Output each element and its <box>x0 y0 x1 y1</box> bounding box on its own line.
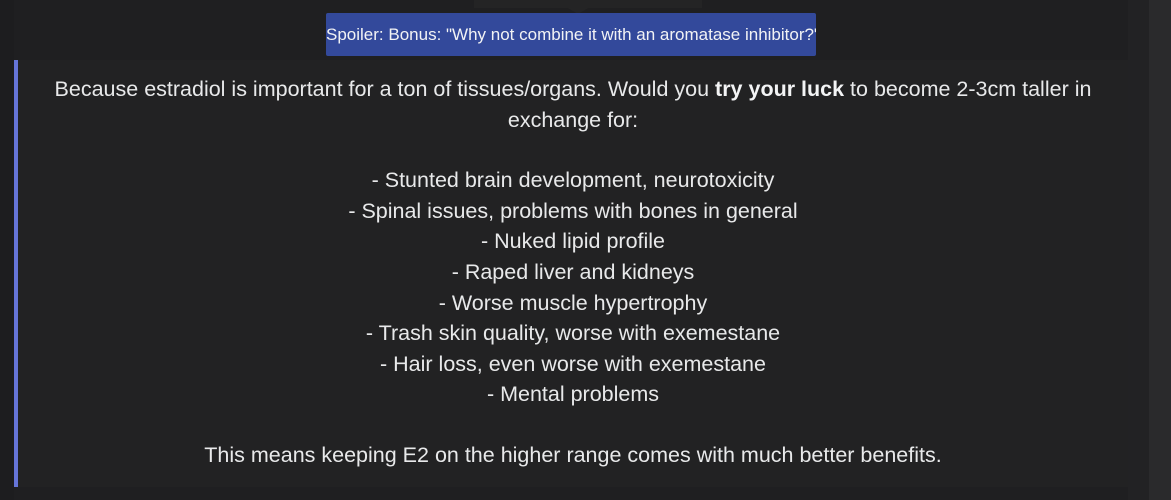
list-item: - Worse muscle hypertrophy <box>40 288 1106 319</box>
side-effects-list: - Stunted brain development, neurotoxici… <box>40 165 1106 410</box>
paragraph-spacer-top <box>40 135 1106 165</box>
intro-text-bold: try your luck <box>715 77 844 101</box>
quote-text-body: Because estradiol is important for a ton… <box>40 74 1106 471</box>
intro-paragraph: Because estradiol is important for a ton… <box>40 74 1106 135</box>
page-root: Spoiler: Bonus: "Why not combine it with… <box>0 0 1171 500</box>
page-right-gutter-inner <box>1128 0 1149 500</box>
intro-text-before-bold: Because estradiol is important for a ton… <box>55 77 715 101</box>
list-item: - Raped liver and kidneys <box>40 257 1106 288</box>
list-item: - Spinal issues, problems with bones in … <box>40 196 1106 227</box>
list-item: - Hair loss, even worse with exemestane <box>40 349 1106 380</box>
paragraph-spacer-bottom <box>40 410 1106 440</box>
closing-paragraph: This means keeping E2 on the higher rang… <box>40 440 1106 471</box>
list-item: - Mental problems <box>40 379 1106 410</box>
spoiler-toggle-button[interactable]: Spoiler: Bonus: "Why not combine it with… <box>326 13 816 56</box>
list-item: - Nuked lipid profile <box>40 226 1106 257</box>
spoiler-content-quote-block: Because estradiol is important for a ton… <box>14 60 1128 487</box>
page-left-gutter <box>0 0 14 500</box>
list-item: - Trash skin quality, worse with exemest… <box>40 318 1106 349</box>
page-right-gutter-outer <box>1149 0 1171 500</box>
list-item: - Stunted brain development, neurotoxici… <box>40 165 1106 196</box>
